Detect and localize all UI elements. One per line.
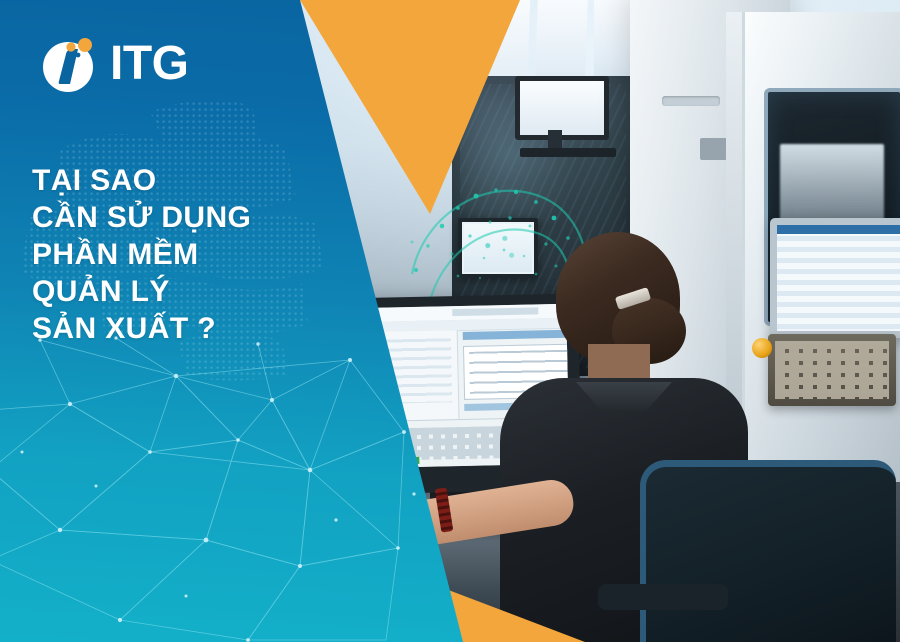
office-chair	[640, 460, 896, 642]
monitor-mount-bar	[520, 148, 616, 157]
cnc-control-keypad	[768, 334, 896, 406]
headline-line-3: PHẦN MỀM	[32, 236, 332, 273]
chair-armrest	[598, 584, 728, 610]
headline: TẠI SAO CẦN SỬ DỤNG PHẦN MỀM QUẢN LÝ SẢN…	[32, 162, 332, 347]
overhead-monitor	[515, 76, 609, 140]
headline-line-5: SẢN XUẤT ?	[32, 310, 332, 347]
headline-line-2: CẦN SỬ DỤNG	[32, 199, 332, 236]
cnc-hmi-screen	[770, 218, 900, 338]
itg-wordmark: ITG	[110, 34, 189, 94]
itg-logo[interactable]: ITG	[40, 26, 290, 100]
headline-line-1: TẠI SAO	[32, 162, 332, 199]
itg-circle-i-icon	[40, 34, 100, 94]
cnc-vent-slot	[662, 96, 720, 106]
banner-root: ITG TẠI SAO CẦN SỬ DỤNG PHẦN MỀM QUẢN LÝ…	[0, 0, 900, 642]
monitor-arm	[548, 130, 562, 150]
emergency-stop-icon	[752, 338, 772, 358]
headline-line-4: QUẢN LÝ	[32, 273, 332, 310]
